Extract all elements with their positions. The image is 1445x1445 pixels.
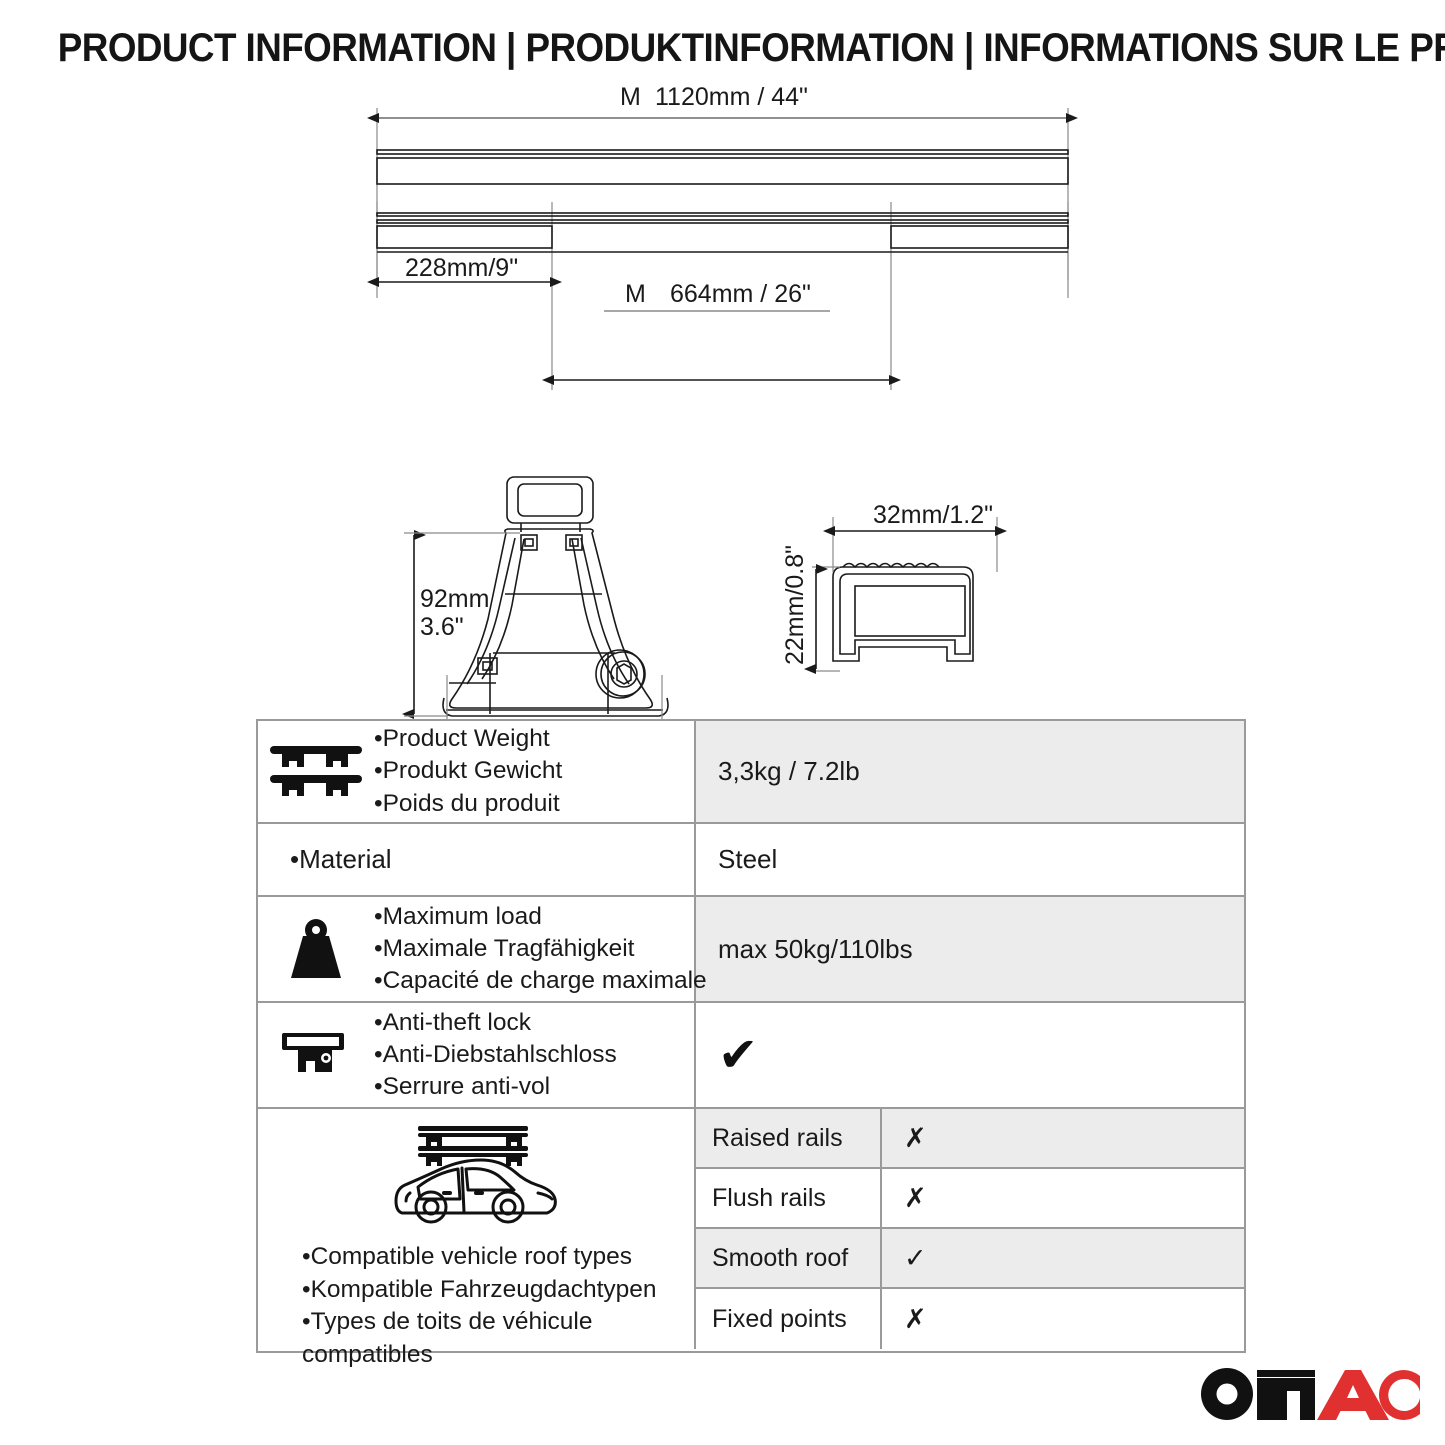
table-row-anti-theft-lock: •Anti-theft lock •Anti-Diebstahlschloss … bbox=[258, 1003, 1244, 1109]
roof-rack-bars-icon bbox=[258, 742, 374, 802]
foot-height-mm-label: 92mm bbox=[420, 585, 489, 613]
compat-value-flush-rails: ✗ bbox=[882, 1169, 1244, 1227]
compatibility-labels: •Compatible vehicle roof types •Kompatib… bbox=[302, 1241, 694, 1371]
anti-theft-lock-label-cell: •Anti-theft lock •Anti-Diebstahlschloss … bbox=[258, 1003, 696, 1107]
compat-value-raised-rails: ✗ bbox=[882, 1109, 1244, 1167]
compatibility-label-fr: •Types de toits de véhicule bbox=[302, 1306, 694, 1339]
product-information-page: PRODUCT INFORMATION | PRODUKTINFORMATION… bbox=[0, 0, 1445, 1445]
table-row-compatibility: •Compatible vehicle roof types •Kompatib… bbox=[258, 1109, 1244, 1349]
table-row-material: •Material Steel bbox=[258, 824, 1244, 897]
anti-theft-lock-label-en: •Anti-theft lock bbox=[374, 1007, 617, 1039]
compat-row-flush-rails: Flush rails ✗ bbox=[696, 1169, 1244, 1229]
maximum-load-label-en: •Maximum load bbox=[374, 901, 707, 933]
maximum-load-label-cell: •Maximum load •Maximale Tragfähigkeit •C… bbox=[258, 897, 696, 1001]
compatibility-label-cell: •Compatible vehicle roof types •Kompatib… bbox=[258, 1109, 696, 1349]
foot-span-label: 664mm / 26" bbox=[670, 280, 811, 308]
lock-foot-icon bbox=[258, 1027, 374, 1083]
check-icon: ✔ bbox=[718, 1031, 758, 1079]
bar-length-label: 1120mm / 44" bbox=[655, 83, 808, 111]
compatibility-label-en: •Compatible vehicle roof types bbox=[302, 1241, 694, 1274]
maximum-load-label-de: •Maximale Tragfähigkeit bbox=[374, 933, 707, 965]
compat-row-smooth-roof: Smooth roof ✓ bbox=[696, 1229, 1244, 1289]
material-label-cell: •Material bbox=[258, 824, 696, 895]
compat-value-smooth-roof: ✓ bbox=[882, 1229, 1244, 1287]
product-spec-table: •Product Weight •Produkt Gewicht •Poids … bbox=[256, 719, 1246, 1353]
anti-theft-lock-labels: •Anti-theft lock •Anti-Diebstahlschloss … bbox=[374, 1007, 617, 1104]
material-value: Steel bbox=[696, 824, 1244, 895]
anti-theft-lock-label-de: •Anti-Diebstahlschloss bbox=[374, 1039, 617, 1071]
page-title: PRODUCT INFORMATION | PRODUKTINFORMATION… bbox=[58, 26, 1387, 71]
bar-length-prefix-label: M bbox=[620, 83, 641, 111]
foot-height-in-label: 3.6" bbox=[420, 613, 464, 641]
car-with-roof-rack-icon bbox=[388, 1121, 568, 1231]
compat-name-smooth-roof: Smooth roof bbox=[696, 1229, 882, 1287]
omac-logo bbox=[1195, 1358, 1420, 1424]
maximum-load-label-fr: •Capacité de charge maximale bbox=[374, 965, 707, 997]
compat-name-raised-rails: Raised rails bbox=[696, 1109, 882, 1167]
compat-name-flush-rails: Flush rails bbox=[696, 1169, 882, 1227]
compatibility-label-de: •Kompatible Fahrzeugdachtypen bbox=[302, 1274, 694, 1307]
product-weight-label-cell: •Product Weight •Produkt Gewicht •Poids … bbox=[258, 721, 696, 822]
product-weight-label-de: •Produkt Gewicht bbox=[374, 755, 562, 787]
product-weight-label-fr: •Poids du produit bbox=[374, 788, 562, 820]
anti-theft-lock-value: ✔ bbox=[696, 1003, 1244, 1107]
product-weight-value: 3,3kg / 7.2lb bbox=[696, 721, 1244, 822]
technical-drawing: M 1120mm / 44" 228mm/9" M 664mm / 26" 92… bbox=[0, 80, 1445, 720]
profile-height-label: 22mm/0.8" bbox=[781, 545, 809, 665]
foot-offset-label: 228mm/9" bbox=[405, 254, 518, 282]
weight-kettlebell-icon bbox=[258, 918, 374, 980]
compatibility-options-table: Raised rails ✗ Flush rails ✗ Smooth roof… bbox=[696, 1109, 1244, 1349]
product-weight-label-en: •Product Weight bbox=[374, 723, 562, 755]
compat-value-fixed-points: ✗ bbox=[882, 1289, 1244, 1349]
compat-row-fixed-points: Fixed points ✗ bbox=[696, 1289, 1244, 1349]
material-label: •Material bbox=[258, 844, 392, 875]
compat-name-fixed-points: Fixed points bbox=[696, 1289, 882, 1349]
profile-width-label: 32mm/1.2" bbox=[873, 501, 993, 529]
maximum-load-value: max 50kg/110lbs bbox=[696, 897, 1244, 1001]
foot-span-prefix-label: M bbox=[625, 280, 646, 308]
compat-row-raised-rails: Raised rails ✗ bbox=[696, 1109, 1244, 1169]
anti-theft-lock-label-fr: •Serrure anti-vol bbox=[374, 1071, 617, 1103]
product-weight-labels: •Product Weight •Produkt Gewicht •Poids … bbox=[374, 723, 562, 820]
table-row-product-weight: •Product Weight •Produkt Gewicht •Poids … bbox=[258, 721, 1244, 824]
table-row-maximum-load: •Maximum load •Maximale Tragfähigkeit •C… bbox=[258, 897, 1244, 1003]
compatibility-label-fr-cont: compatibles bbox=[302, 1339, 694, 1372]
maximum-load-labels: •Maximum load •Maximale Tragfähigkeit •C… bbox=[374, 901, 707, 998]
